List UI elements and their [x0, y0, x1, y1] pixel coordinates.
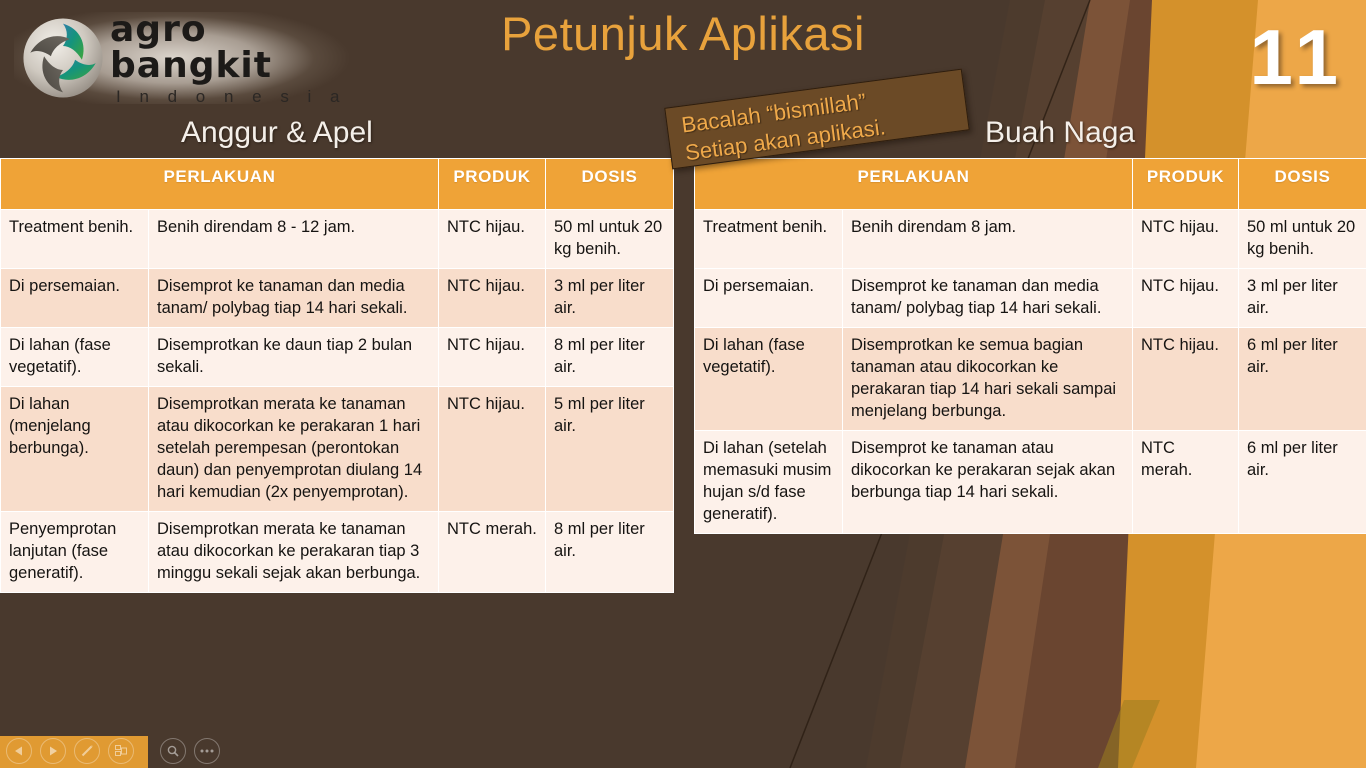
- cell-perlakuan: Di lahan (menjelang berbunga).: [1, 387, 149, 512]
- section-heading-right: Buah Naga: [985, 116, 1135, 150]
- cell-perlakuan: Di lahan (fase vegetatif).: [695, 328, 843, 431]
- cell-keterangan: Disemprot ke tanaman dan media tanam/ po…: [843, 269, 1133, 328]
- cell-perlakuan: Penyemprotan lanjutan (fase generatif).: [1, 512, 149, 593]
- cell-produk: NTC hijau.: [1133, 328, 1239, 431]
- zoom-button[interactable]: [160, 738, 186, 764]
- cell-keterangan: Benih direndam 8 - 12 jam.: [149, 210, 439, 269]
- cell-perlakuan: Treatment benih.: [1, 210, 149, 269]
- presentation-toolbar: [6, 738, 220, 764]
- cell-produk: NTC hijau.: [439, 210, 546, 269]
- cell-dosis: 50 ml untuk 20 kg benih.: [1239, 210, 1366, 269]
- cell-produk: NTC merah.: [439, 512, 546, 593]
- magnifier-icon: [166, 744, 180, 758]
- table-row: Di lahan (fase vegetatif). Disemprotkan …: [1, 328, 674, 387]
- page-number: 11: [1250, 12, 1344, 103]
- cell-keterangan: Disemprotkan ke daun tiap 2 bulan sekali…: [149, 328, 439, 387]
- table-header-row: PERLAKUAN PRODUK DOSIS: [695, 159, 1366, 210]
- cell-keterangan: Disemprot ke tanaman dan media tanam/ po…: [149, 269, 439, 328]
- table-header-row: PERLAKUAN PRODUK DOSIS: [1, 159, 674, 210]
- cell-dosis: 8 ml per liter air.: [546, 512, 674, 593]
- cell-keterangan: Disemprotkan merata ke tanaman atau diko…: [149, 512, 439, 593]
- table-row: Treatment benih. Benih direndam 8 - 12 j…: [1, 210, 674, 269]
- cell-produk: NTC hijau.: [1133, 210, 1239, 269]
- cell-dosis: 8 ml per liter air.: [546, 328, 674, 387]
- slide-canvas: agro bangkit I n d o n e s i a Petunjuk …: [0, 0, 1366, 768]
- table-row: Di lahan (setelah memasuki musim hujan s…: [695, 431, 1366, 534]
- column-header-dosis: DOSIS: [546, 159, 674, 210]
- table-row: Di lahan (fase vegetatif). Disemprotkan …: [695, 328, 1366, 431]
- cell-produk: NTC hijau.: [439, 387, 546, 512]
- cell-perlakuan: Di persemaian.: [1, 269, 149, 328]
- cell-dosis: 3 ml per liter air.: [1239, 269, 1366, 328]
- table-row: Di persemaian. Disemprot ke tanaman dan …: [1, 269, 674, 328]
- cell-perlakuan: Treatment benih.: [695, 210, 843, 269]
- cell-perlakuan: Di lahan (fase vegetatif).: [1, 328, 149, 387]
- pen-icon: [80, 744, 94, 758]
- triangle-left-icon: [13, 745, 25, 757]
- page-title: Petunjuk Aplikasi: [0, 6, 1366, 61]
- section-heading-left: Anggur & Apel: [181, 116, 373, 150]
- more-options-button[interactable]: [194, 738, 220, 764]
- column-header-dosis: DOSIS: [1239, 159, 1366, 210]
- triangle-right-icon: [47, 745, 59, 757]
- column-header-produk: PRODUK: [1133, 159, 1239, 210]
- cell-perlakuan: Di lahan (setelah memasuki musim hujan s…: [695, 431, 843, 534]
- previous-slide-button[interactable]: [6, 738, 32, 764]
- ellipsis-icon: [199, 748, 215, 754]
- cell-produk: NTC hijau.: [1133, 269, 1239, 328]
- cell-produk: NTC hijau.: [439, 269, 546, 328]
- table-row: Treatment benih. Benih direndam 8 jam. N…: [695, 210, 1366, 269]
- table-row: Di lahan (menjelang berbunga). Disemprot…: [1, 387, 674, 512]
- grid-slides-icon: [114, 744, 128, 758]
- brand-subtitle: I n d o n e s i a: [110, 88, 364, 105]
- cell-keterangan: Disemprot ke tanaman atau dikocorkan ke …: [843, 431, 1133, 534]
- table-row: Di persemaian. Disemprot ke tanaman dan …: [695, 269, 1366, 328]
- cell-dosis: 5 ml per liter air.: [546, 387, 674, 512]
- cell-keterangan: Disemprotkan ke semua bagian tanaman ata…: [843, 328, 1133, 431]
- cell-dosis: 6 ml per liter air.: [1239, 328, 1366, 431]
- cell-dosis: 6 ml per liter air.: [1239, 431, 1366, 534]
- cell-produk: NTC hijau.: [439, 328, 546, 387]
- pen-tool-button[interactable]: [74, 738, 100, 764]
- column-header-perlakuan: PERLAKUAN: [695, 159, 1133, 210]
- slide-overview-button[interactable]: [108, 738, 134, 764]
- table-row: Penyemprotan lanjutan (fase generatif). …: [1, 512, 674, 593]
- table-buah-naga: PERLAKUAN PRODUK DOSIS Treatment benih. …: [694, 158, 1366, 534]
- cell-keterangan: Disemprotkan merata ke tanaman atau diko…: [149, 387, 439, 512]
- column-header-perlakuan: PERLAKUAN: [1, 159, 439, 210]
- column-header-produk: PRODUK: [439, 159, 546, 210]
- table-anggur-apel: PERLAKUAN PRODUK DOSIS Treatment benih. …: [0, 158, 673, 593]
- cell-dosis: 3 ml per liter air.: [546, 269, 674, 328]
- cell-perlakuan: Di persemaian.: [695, 269, 843, 328]
- next-slide-button[interactable]: [40, 738, 66, 764]
- cell-dosis: 50 ml untuk 20 kg benih.: [546, 210, 674, 269]
- cell-keterangan: Benih direndam 8 jam.: [843, 210, 1133, 269]
- cell-produk: NTC merah.: [1133, 431, 1239, 534]
